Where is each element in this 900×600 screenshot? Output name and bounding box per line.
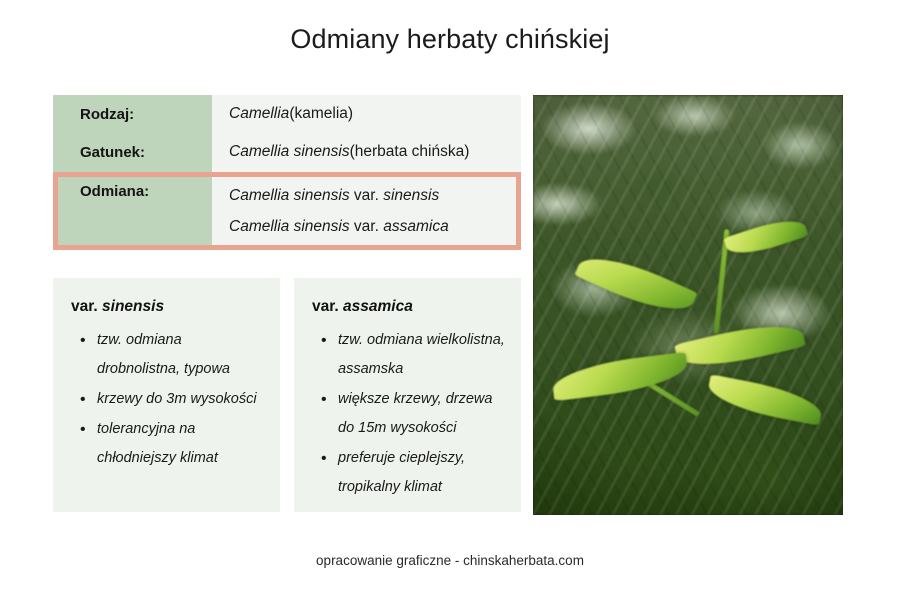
bullet-icon: • <box>80 326 86 355</box>
list-item: •krzewy do 3m wysokości <box>97 385 266 414</box>
variety-card-sinensis-title-roman: var. <box>71 298 102 315</box>
variety-assamica-genus: Camellia sinensis <box>229 218 350 235</box>
variety-card-sinensis-title: var. sinensis <box>71 298 266 316</box>
variety-card-assamica-title-italic: assamica <box>343 298 413 315</box>
list-item-text: tzw. odmiana wielkolistna, assamska <box>338 332 505 377</box>
variety-card-sinensis-list: •tzw. odmiana drobnolistna, typowa •krze… <box>71 326 266 473</box>
taxonomy-value-odmiana: Camellia sinensis var. sinensis Camellia… <box>212 171 521 250</box>
list-item-text: krzewy do 3m wysokości <box>97 391 257 407</box>
variety-card-sinensis-title-italic: sinensis <box>102 298 164 315</box>
variety-card-assamica-title-roman: var. <box>312 298 343 315</box>
bullet-icon: • <box>321 385 327 414</box>
photo-vignette <box>533 95 843 515</box>
list-item: •tolerancyjna na chłodniejszy klimat <box>97 415 266 473</box>
list-item: •preferuje cieplejszy, tropikalny klimat <box>338 444 507 502</box>
variety-card-assamica-title: var. assamica <box>312 298 507 316</box>
footer-credit: opracowanie graficzne - chinskaherbata.c… <box>0 553 900 568</box>
bullet-icon: • <box>321 326 327 355</box>
bullet-icon: • <box>80 385 86 414</box>
list-item: •większe krzewy, drzewa do 15m wysokości <box>338 385 507 443</box>
variety-card-assamica: var. assamica •tzw. odmiana wielkolistna… <box>294 278 521 512</box>
taxonomy-variety-line-sinensis: Camellia sinensis var. sinensis <box>229 180 521 211</box>
variety-assamica-epithet: assamica <box>383 218 448 235</box>
list-item-text: tolerancyjna na chłodniejszy klimat <box>97 421 218 466</box>
taxonomy-variety-line-assamica: Camellia sinensis var. assamica <box>229 211 521 242</box>
taxonomy-value-rodzaj: Camellia (kamelia) <box>212 95 521 133</box>
table-row: Odmiana: Camellia sinensis var. sinensis… <box>53 171 521 250</box>
taxonomy-rows: Rodzaj: Camellia (kamelia) Gatunek: Came… <box>53 95 521 250</box>
taxonomy-value-gatunek-roman: (herbata chińska) <box>350 143 470 161</box>
taxonomy-table: Rodzaj: Camellia (kamelia) Gatunek: Came… <box>53 95 521 250</box>
list-item-text: większe krzewy, drzewa do 15m wysokości <box>338 391 492 436</box>
tea-plant-photo <box>533 95 843 515</box>
table-row: Rodzaj: Camellia (kamelia) <box>53 95 521 133</box>
taxonomy-value-rodzaj-italic: Camellia <box>229 105 289 123</box>
taxonomy-label-rodzaj: Rodzaj: <box>53 95 212 133</box>
variety-card-sinensis: var. sinensis •tzw. odmiana drobnolistna… <box>53 278 280 512</box>
variety-sinensis-var: var. <box>350 187 384 204</box>
taxonomy-value-gatunek-italic: Camellia sinensis <box>229 143 350 161</box>
taxonomy-label-odmiana: Odmiana: <box>53 171 212 250</box>
variety-sinensis-epithet: sinensis <box>383 187 439 204</box>
taxonomy-value-rodzaj-roman: (kamelia) <box>289 105 353 123</box>
variety-assamica-var: var. <box>350 218 384 235</box>
taxonomy-label-gatunek: Gatunek: <box>53 133 212 171</box>
list-item-text: preferuje cieplejszy, tropikalny klimat <box>338 450 465 495</box>
variety-card-assamica-list: •tzw. odmiana wielkolistna, assamska •wi… <box>312 326 507 502</box>
bullet-icon: • <box>80 415 86 444</box>
list-item: •tzw. odmiana wielkolistna, assamska <box>338 326 507 384</box>
list-item: •tzw. odmiana drobnolistna, typowa <box>97 326 266 384</box>
taxonomy-value-gatunek: Camellia sinensis (herbata chińska) <box>212 133 521 171</box>
page-title: Odmiany herbaty chińskiej <box>0 24 900 55</box>
bullet-icon: • <box>321 444 327 473</box>
variety-sinensis-genus: Camellia sinensis <box>229 187 350 204</box>
table-row: Gatunek: Camellia sinensis (herbata chiń… <box>53 133 521 171</box>
list-item-text: tzw. odmiana drobnolistna, typowa <box>97 332 230 377</box>
